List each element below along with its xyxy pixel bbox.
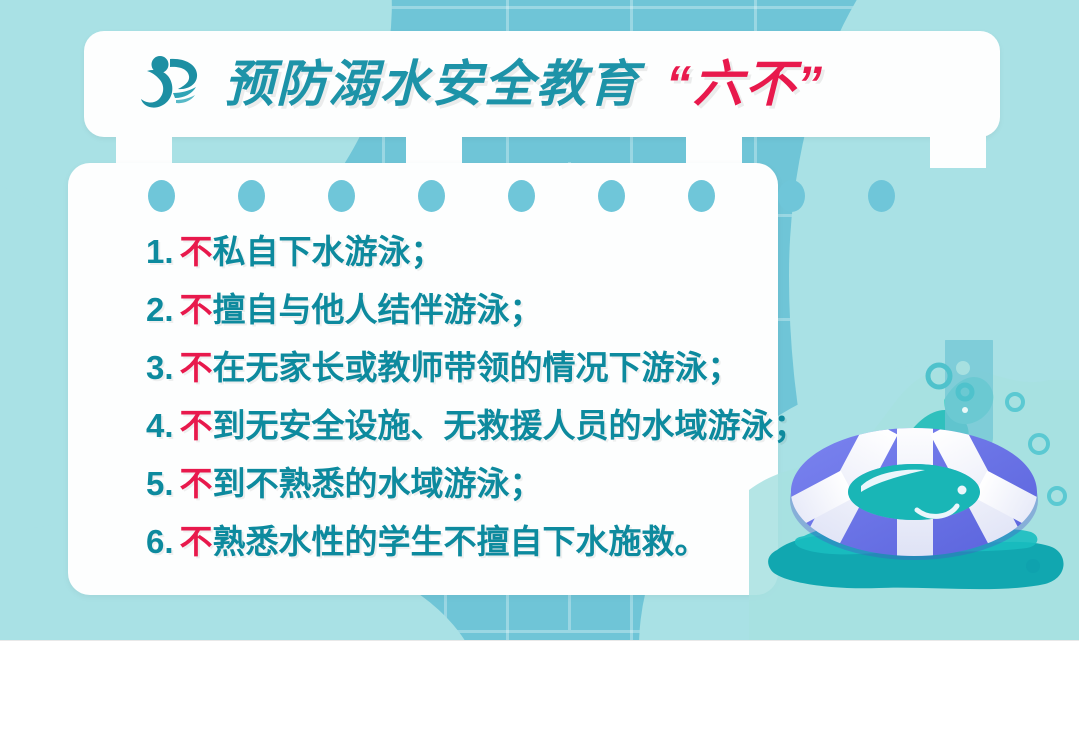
page-title-main: 预防溺水安全教育 — [224, 59, 640, 109]
rule-text: 在无家长或教师带领的情况下游泳； — [213, 349, 741, 386]
rule-text: 到无安全设施、无救援人员的水域游泳； — [213, 407, 807, 444]
column-bubble — [962, 407, 968, 413]
list-item: 2.不擅自与他人结伴游泳； — [146, 293, 1079, 326]
rule-negative: 不 — [180, 523, 213, 560]
rule-negative: 不 — [180, 349, 213, 386]
swim-ring-illustration — [749, 340, 1079, 640]
divider-dot — [688, 180, 715, 212]
rule-number: 5. — [146, 465, 174, 502]
ring-eye — [958, 486, 967, 495]
divider-dot — [868, 180, 895, 212]
rule-number: 4. — [146, 407, 174, 444]
rule-text: 熟悉水性的学生不擅自下水施救。 — [213, 523, 708, 560]
bubble-dot — [1026, 559, 1040, 573]
poster-canvas: 预防溺水安全教育 “ 六不 ” 1.不私自下水游泳； 2.不擅自与他人结伴游泳；… — [0, 0, 1079, 640]
divider-dot — [148, 180, 175, 212]
dot-divider-row — [148, 180, 928, 212]
divider-dot — [238, 180, 265, 212]
title-row: 预防溺水安全教育 “ 六不 ” — [84, 31, 1000, 137]
card-connector-4 — [930, 130, 986, 168]
divider-dot — [508, 180, 535, 212]
swimmer-logo-icon — [140, 55, 202, 113]
rule-text: 擅自与他人结伴游泳； — [213, 291, 543, 328]
page-bottom-margin — [0, 640, 1079, 748]
rule-negative: 不 — [180, 233, 213, 270]
rule-number: 2. — [146, 291, 174, 328]
divider-dot — [778, 180, 805, 212]
page-title-accent: 六不 — [693, 59, 797, 109]
divider-dot — [328, 180, 355, 212]
divider-dot — [598, 180, 625, 212]
list-item: 1.不私自下水游泳； — [146, 235, 1079, 268]
header-card: 预防溺水安全教育 “ 六不 ” — [84, 31, 1000, 137]
rule-text: 私自下水游泳； — [213, 233, 444, 270]
rule-negative: 不 — [180, 291, 213, 328]
column-bubble — [956, 361, 970, 375]
quote-close-mark: ” — [797, 59, 824, 109]
rule-text: 到不熟悉的水域游泳； — [213, 465, 543, 502]
divider-dot — [418, 180, 445, 212]
rule-negative: 不 — [180, 407, 213, 444]
rule-number: 6. — [146, 523, 174, 560]
quote-open-mark: “ — [666, 59, 693, 109]
rule-number: 3. — [146, 349, 174, 386]
rule-negative: 不 — [180, 465, 213, 502]
rule-number: 1. — [146, 233, 174, 270]
